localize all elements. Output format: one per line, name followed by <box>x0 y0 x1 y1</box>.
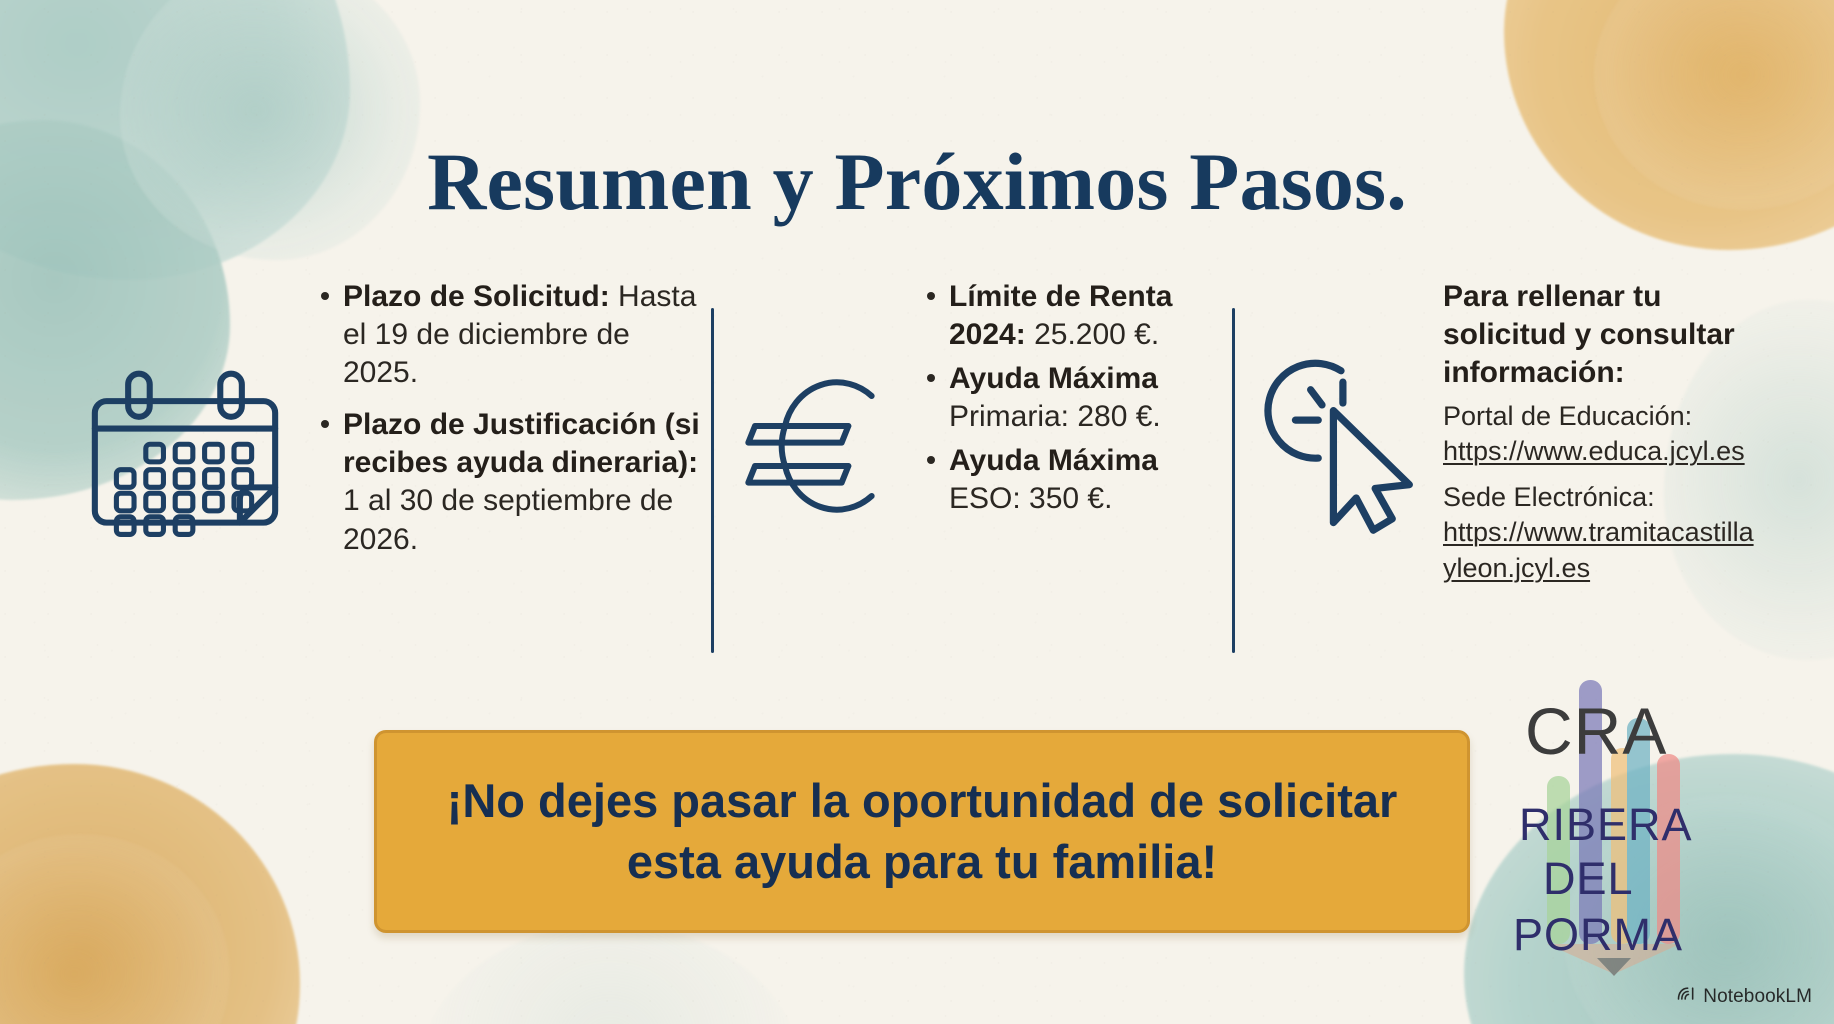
plazos-text-block: Plazo de Solicitud: Hasta el 19 de dicie… <box>317 278 707 559</box>
notebooklm-label: NotebookLM <box>1703 986 1812 1008</box>
click-cursor-icon <box>1253 348 1429 539</box>
page-title: Resumen y Próximos Pasos. <box>0 141 1834 223</box>
slide-content: Resumen y Próximos Pasos. <box>0 0 1834 1024</box>
bullet-rest-text: ESO: 350 €. <box>949 482 1112 515</box>
bullet-rest-text: Primaria: 280 €. <box>949 400 1161 433</box>
list-item: Ayuda Máxima ESO: 350 €. <box>923 442 1223 518</box>
bullet-bold-label: Plazo de Justificación (si recibes ayuda… <box>343 408 700 479</box>
list-item: Ayuda Máxima Primaria: 280 €. <box>923 360 1223 436</box>
bullet-bold-label: Plazo de Solicitud: <box>343 280 610 313</box>
plazos-bullet-list: Plazo de Solicitud: Hasta el 19 de dicie… <box>317 278 707 559</box>
bullet-bold-label: Ayuda Máxima <box>949 362 1158 395</box>
call-to-action-text: ¡No dejes pasar la oportunidad de solici… <box>377 771 1467 891</box>
list-item: Plazo de Solicitud: Hasta el 19 de dicie… <box>317 278 707 392</box>
svg-text:PORMA: PORMA <box>1513 909 1683 960</box>
notebooklm-icon <box>1676 984 1696 1010</box>
cra-ribera-del-porma-logo: CRA RIBERA DEL PORMA <box>1505 658 1715 978</box>
enlaces-text-block: Para rellenar tu solicitud y consultar i… <box>1443 278 1763 596</box>
bullet-bold-label: Ayuda Máxima <box>949 444 1158 477</box>
enlaces-heading: Para rellenar tu solicitud y consultar i… <box>1443 278 1763 391</box>
content-columns: Plazo de Solicitud: Hasta el 19 de dicie… <box>75 300 1764 660</box>
bullet-rest-text: 25.200 €. <box>1026 318 1159 351</box>
svg-text:DEL: DEL <box>1543 853 1634 904</box>
importes-text-block: Límite de Renta 2024: 25.200 €. Ayuda Má… <box>923 278 1223 525</box>
sede-electronica-label: Sede Electrónica: <box>1443 480 1763 515</box>
list-item: Plazo de Justificación (si recibes ayuda… <box>317 406 707 558</box>
svg-text:RIBERA: RIBERA <box>1519 799 1693 850</box>
portal-educacion-label: Portal de Educación: <box>1443 399 1763 434</box>
column-divider-2 <box>1232 308 1235 653</box>
importes-bullet-list: Límite de Renta 2024: 25.200 €. Ayuda Má… <box>923 278 1223 519</box>
sede-electronica-link[interactable]: https://www.tramitacastillayleon.jcyl.es <box>1443 515 1763 586</box>
notebooklm-watermark: NotebookLM <box>1676 984 1812 1010</box>
portal-educacion-link[interactable]: https://www.educa.jcyl.es <box>1443 434 1763 470</box>
svg-text:CRA: CRA <box>1525 694 1667 768</box>
euro-icon <box>735 362 885 535</box>
list-item: Límite de Renta 2024: 25.200 €. <box>923 278 1223 354</box>
calendar-icon <box>87 358 283 559</box>
bullet-rest-text: 1 al 30 de septiembre de 2026. <box>343 484 673 555</box>
column-divider-1 <box>711 308 714 653</box>
call-to-action-banner[interactable]: ¡No dejes pasar la oportunidad de solici… <box>374 730 1470 933</box>
